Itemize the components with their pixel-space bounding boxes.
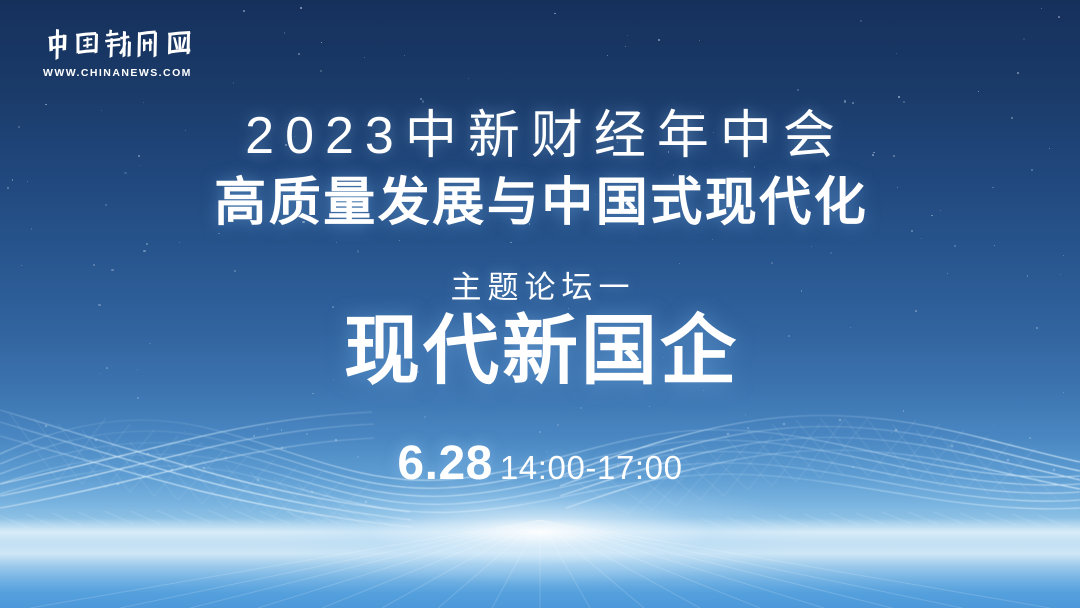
- forum-title: 现代新国企: [0, 306, 1080, 399]
- chinanews-logo-mark: [40, 26, 205, 62]
- poster-text-block: 2023中新财经年中会 高质量发展与中国式现代化 主题论坛一 现代新国企 6.2…: [0, 0, 1080, 608]
- perspective-rays: [0, 520, 1080, 608]
- forum-label: 主题论坛一: [0, 262, 1080, 307]
- schedule-line: 6.2814:00-17:00: [0, 440, 1080, 488]
- event-theme-line: 高质量发展与中国式现代化: [0, 172, 1080, 234]
- chinanews-logo[interactable]: WWW.CHINANEWS.COM: [40, 26, 210, 79]
- event-date: 6.28: [397, 437, 492, 490]
- event-time: 14:00-17:00: [500, 449, 683, 486]
- event-poster: WWW.CHINANEWS.COM 2023中新财经年中会 高质量发展与中国式现…: [0, 0, 1080, 608]
- horizon-band: [0, 518, 1080, 552]
- event-year-line: 2023中新财经年中会: [0, 106, 1080, 167]
- chinanews-logo-url: WWW.CHINANEWS.COM: [40, 67, 210, 79]
